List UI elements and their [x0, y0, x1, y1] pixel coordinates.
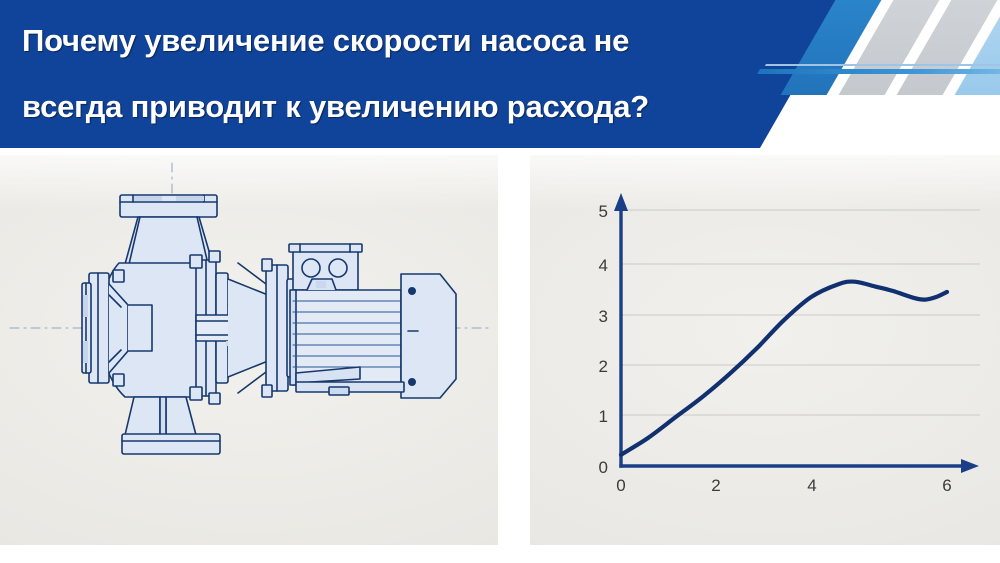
- chart-axes: [621, 207, 967, 466]
- x-axis-arrow: [961, 459, 979, 473]
- pump-illustration-panel: [0, 155, 498, 545]
- y-tick-labels: 5 4 3 2 1 0: [599, 202, 608, 477]
- y-tick-4: 4: [599, 256, 608, 275]
- x-tick-4: 4: [807, 476, 816, 495]
- header-banner: Почему увеличение скорости насоса не все…: [0, 0, 1000, 148]
- cable-gland-1: [302, 259, 320, 277]
- y-tick-0: 0: [599, 458, 608, 477]
- y-tick-1: 1: [599, 407, 608, 426]
- pump-base-foot: [122, 397, 220, 454]
- discharge-flange: [120, 195, 217, 217]
- cable-gland-2: [329, 259, 347, 277]
- x-tick-6: 6: [942, 476, 951, 495]
- y-tick-5: 5: [599, 202, 608, 221]
- pump-technical-drawing: [0, 155, 498, 545]
- pump-flow-chart: 5 4 3 2 1 0 0 2 4 6: [530, 155, 1000, 545]
- motor-feet: [296, 382, 404, 395]
- y-tick-3: 3: [599, 307, 608, 326]
- chart-panel: 5 4 3 2 1 0 0 2 4 6: [530, 155, 1000, 545]
- x-tick-labels: 0 2 4 6: [616, 476, 951, 495]
- motor-body: [290, 279, 401, 385]
- motor-end-bell: [401, 274, 456, 398]
- end-bell-bolt-2: [409, 379, 415, 385]
- x-tick-0: 0: [616, 476, 625, 495]
- suction-flange: [82, 273, 109, 383]
- y-axis-arrow: [614, 193, 628, 211]
- slide-root: Почему увеличение скорости насоса не все…: [0, 0, 1000, 563]
- y-tick-2: 2: [599, 357, 608, 376]
- x-tick-2: 2: [711, 476, 720, 495]
- end-bell-bolt-1: [409, 288, 415, 294]
- chart-gridlines: [621, 210, 980, 415]
- page-title: Почему увеличение скорости насоса не все…: [22, 8, 812, 140]
- flow-curve: [621, 282, 947, 455]
